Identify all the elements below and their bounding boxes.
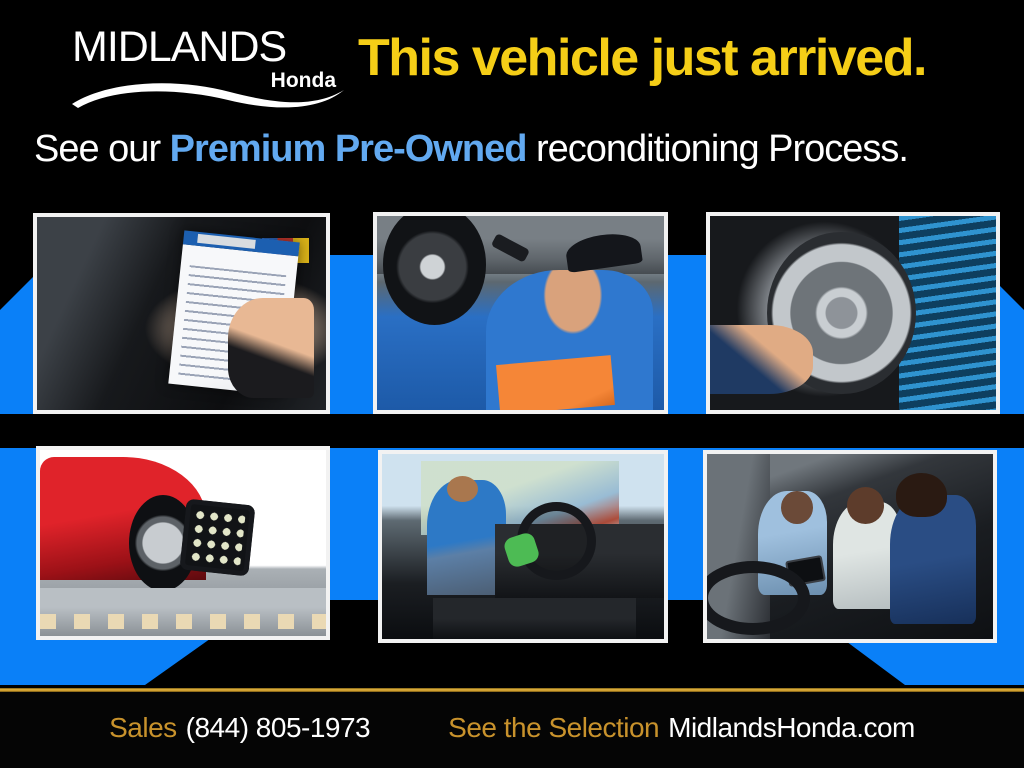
subheadline: See our Premium Pre-Owned reconditioning…: [34, 126, 1014, 172]
alignment-rack-detail: [40, 588, 326, 636]
hand-detail: [706, 325, 813, 395]
sales-phone-link[interactable]: (844) 805-1973: [186, 712, 370, 743]
footer-contact-row: Sales(844) 805-1973See the SelectionMidl…: [0, 712, 1024, 744]
gallery-photo-undercarriage-inspection: [373, 212, 668, 414]
footer: Sales(844) 805-1973See the SelectionMidl…: [0, 692, 1024, 768]
rack-markings: [40, 614, 326, 629]
photo-image: [40, 450, 326, 636]
photo-image: [377, 216, 664, 410]
subhead-highlight: Premium Pre-Owned: [170, 128, 527, 170]
sales-label: Sales: [109, 712, 177, 743]
photo-image: [37, 217, 326, 410]
gallery-photo-interior-detailing: [378, 450, 668, 643]
steering-wheel-detail: [703, 561, 810, 635]
website-link[interactable]: MidlandsHonda.com: [668, 712, 915, 743]
tire-detail: [383, 212, 486, 325]
photo-image: [707, 454, 993, 639]
gallery-photo-wheel-alignment: [36, 446, 330, 640]
photo-row-divider: [0, 414, 1024, 448]
gallery-photo-wheel-tire-inspection: [706, 212, 1000, 414]
logo-sub-wordmark: Honda: [271, 69, 336, 93]
dealer-logo: MIDLANDS Honda: [72, 24, 340, 102]
center-console-detail: [433, 598, 636, 639]
alignment-target-detail: [179, 499, 255, 576]
see-the-selection-label: See the Selection: [448, 712, 659, 743]
subhead-prefix: See our: [34, 128, 170, 170]
logo-wordmark: MIDLANDS: [72, 24, 340, 70]
orange-clipboard-detail: [496, 355, 615, 414]
subhead-suffix: reconditioning Process.: [526, 128, 908, 170]
gallery-photo-engine-bay-checklist: [33, 213, 330, 414]
detailer-head-detail: [447, 476, 478, 502]
headline: This vehicle just arrived.: [358, 28, 926, 88]
customer-two-head-detail: [896, 473, 947, 517]
target-reflector-dots: [189, 508, 246, 567]
header: MIDLANDS Honda This vehicle just arrived…: [0, 0, 1024, 200]
photo-image: [382, 454, 664, 639]
hand-detail: [228, 298, 315, 398]
associate-head-detail: [781, 491, 812, 524]
gallery-photo-customer-delivery: [703, 450, 997, 643]
photo-image: [710, 216, 996, 410]
